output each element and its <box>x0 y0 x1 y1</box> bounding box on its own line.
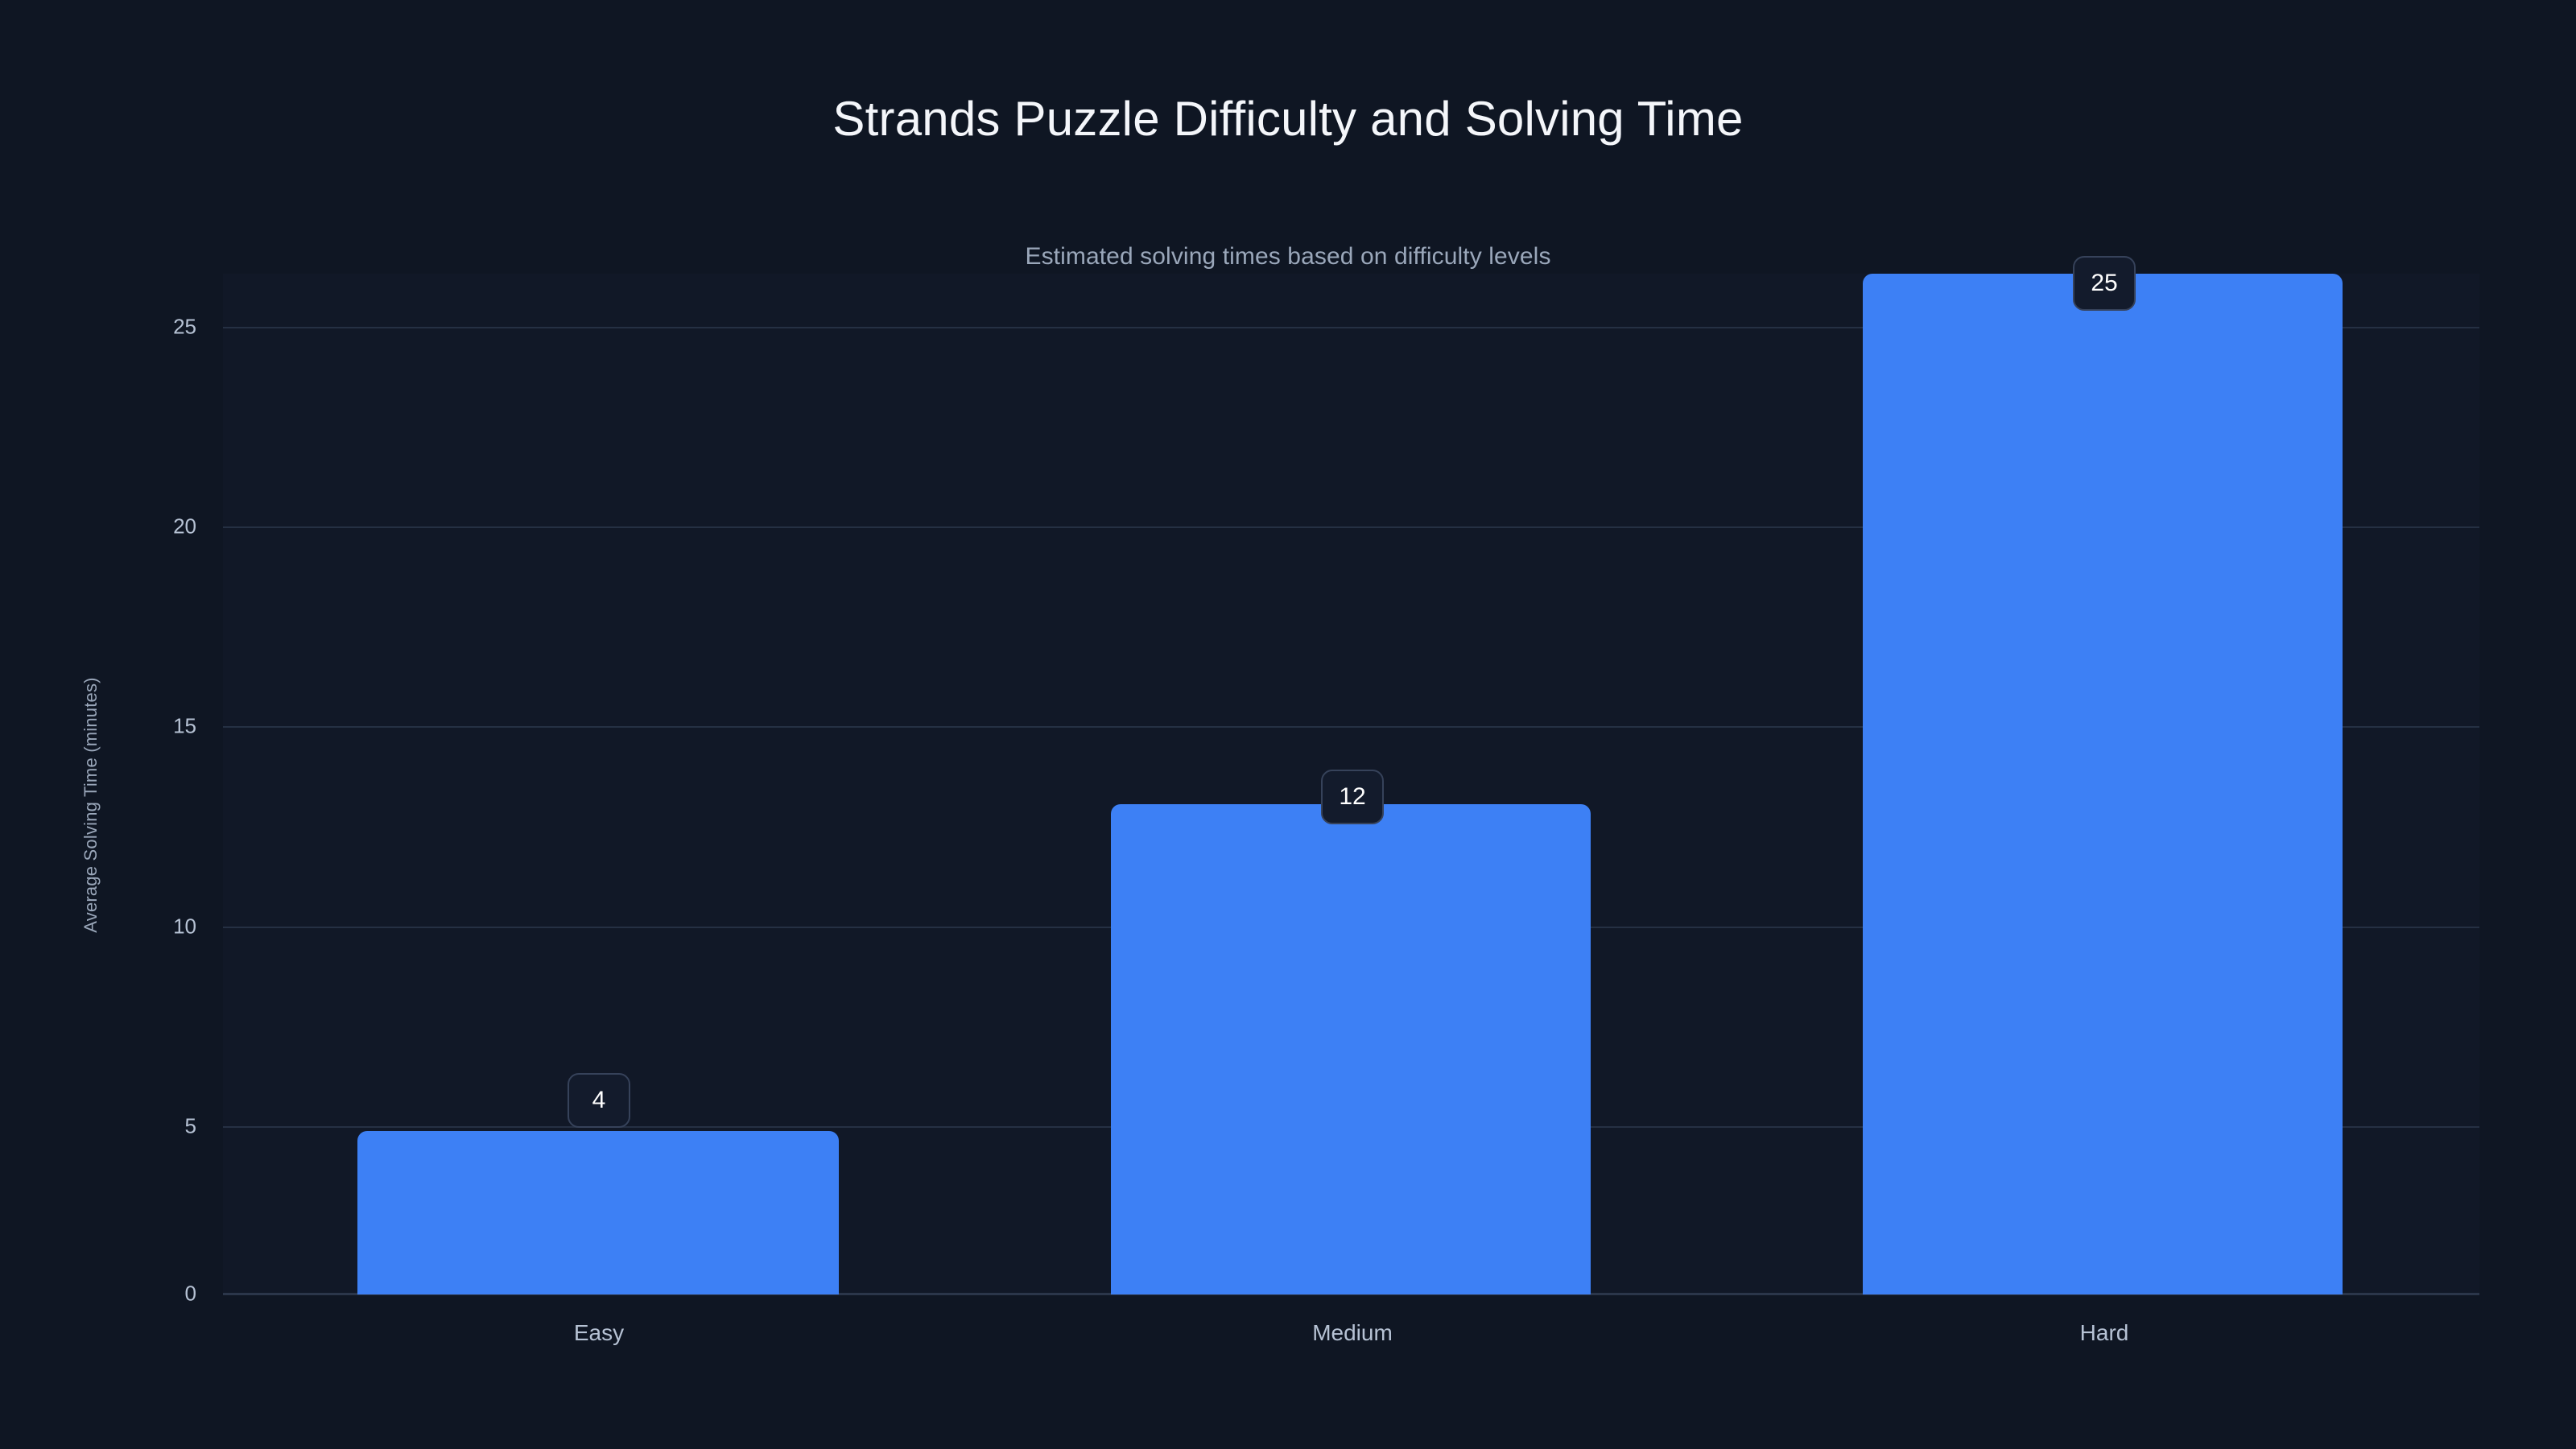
y-tick-label-0: 0 <box>185 1282 196 1307</box>
bar-chart-figure: Strands Puzzle Difficulty and Solving Ti… <box>0 0 2576 1449</box>
value-badge-medium: 12 <box>1321 770 1384 824</box>
y-axis: 25 20 15 10 5 0 <box>0 0 223 1449</box>
bar-easy[interactable] <box>357 1131 839 1294</box>
chart-title: Strands Puzzle Difficulty and Solving Ti… <box>0 93 2576 146</box>
value-badge-hard: 25 <box>2073 256 2136 311</box>
y-tick-label-25: 25 <box>173 315 196 340</box>
y-axis-title: Average Solving Time (minutes) <box>80 677 101 932</box>
x-tick-label-hard: Hard <box>2080 1320 2129 1346</box>
x-tick-label-easy: Easy <box>574 1320 624 1346</box>
y-tick-label-15: 15 <box>173 714 196 739</box>
y-tick-label-10: 10 <box>173 914 196 939</box>
chart-subtitle: Estimated solving times based on difficu… <box>0 243 2576 270</box>
bar-hard[interactable] <box>1863 274 2343 1294</box>
x-tick-label-medium: Medium <box>1312 1320 1393 1346</box>
value-badge-easy: 4 <box>568 1073 630 1128</box>
bar-medium[interactable] <box>1111 804 1591 1294</box>
y-tick-label-5: 5 <box>185 1114 196 1139</box>
y-tick-label-20: 20 <box>173 514 196 539</box>
